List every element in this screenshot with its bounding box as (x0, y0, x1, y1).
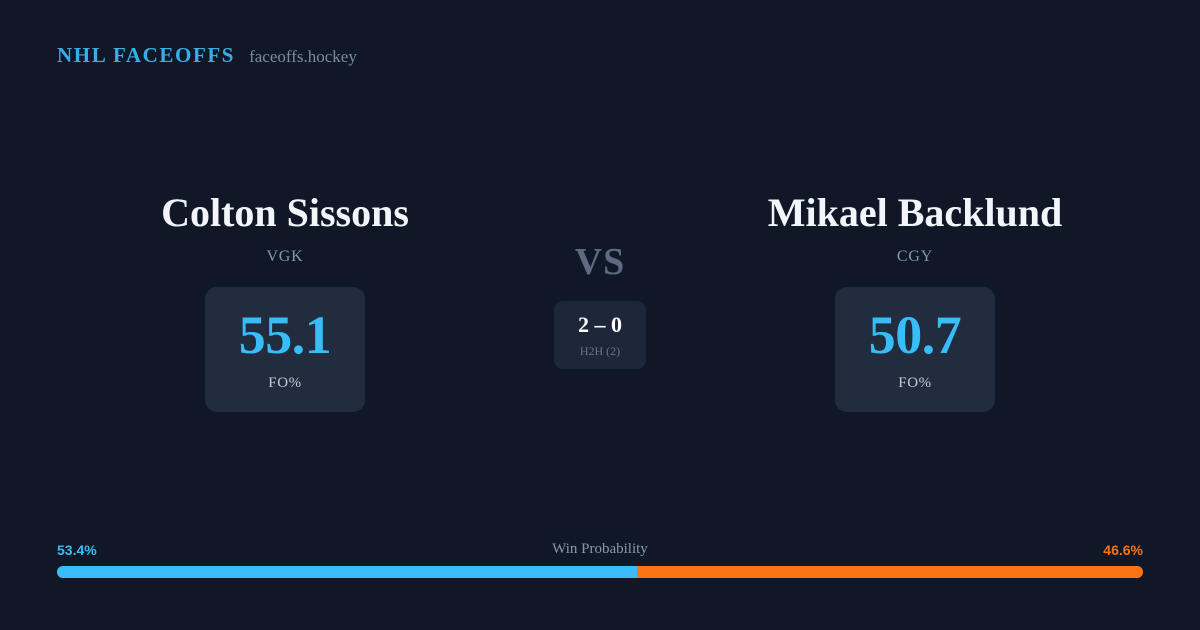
player-right-stat-value: 50.7 (869, 308, 962, 362)
versus-label: VS (575, 243, 626, 281)
player-left-stat-card: 55.1 FO% (205, 287, 365, 412)
player-right: Mikael Backlund CGY 50.7 FO% (690, 190, 1140, 412)
player-right-name: Mikael Backlund (768, 190, 1063, 236)
player-left-name: Colton Sissons (161, 190, 409, 236)
player-left-stat-label: FO% (268, 376, 301, 391)
win-probability-bar-left-fill (57, 566, 637, 578)
head-to-head-box: 2 – 0 H2H (2) (554, 301, 646, 369)
player-right-stat-label: FO% (898, 376, 931, 391)
brand-title: NHL FACEOFFS (57, 45, 235, 66)
win-probability-section: 53.4% Win Probability 46.6% (57, 539, 1143, 578)
player-left: Colton Sissons VGK 55.1 FO% (60, 190, 510, 412)
player-left-team: VGK (266, 249, 303, 265)
versus-column: VS 2 – 0 H2H (2) (510, 190, 690, 369)
brand-domain: faceoffs.hockey (249, 48, 357, 65)
faceoff-matchup-card: NHL FACEOFFS faceoffs.hockey Colton Siss… (0, 0, 1200, 630)
matchup-row: Colton Sissons VGK 55.1 FO% VS 2 – 0 H2H… (0, 190, 1200, 412)
head-to-head-score: 2 – 0 (578, 314, 622, 336)
player-right-stat-card: 50.7 FO% (835, 287, 995, 412)
player-left-stat-value: 55.1 (239, 308, 332, 362)
win-probability-title: Win Probability (57, 542, 1143, 557)
win-probability-labels: 53.4% Win Probability 46.6% (57, 539, 1143, 557)
win-probability-bar-right-fill (637, 566, 1143, 578)
site-header: NHL FACEOFFS faceoffs.hockey (57, 45, 357, 66)
win-probability-bar (57, 566, 1143, 578)
head-to-head-label: H2H (2) (580, 345, 620, 357)
win-probability-right-value: 46.6% (1103, 543, 1143, 557)
player-right-team: CGY (897, 249, 933, 265)
